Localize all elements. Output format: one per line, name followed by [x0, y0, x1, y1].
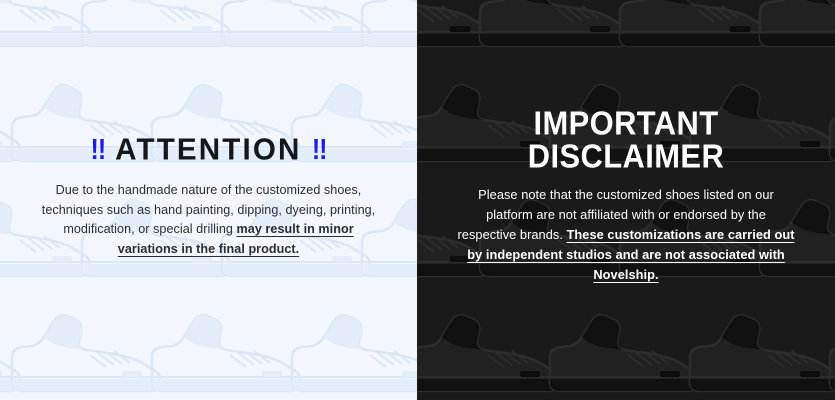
disclaimer-heading: IMPORTANT DISCLAIMER	[451, 108, 801, 174]
disclaimer-content: IMPORTANT DISCLAIMER Please note that th…	[456, 111, 796, 288]
attention-panel: !! ATTENTION !! Due to the handmade natu…	[0, 0, 417, 400]
attention-body: Due to the handmade nature of the custom…	[39, 181, 379, 260]
disclaimer-heading-line-1: IMPORTANT	[451, 108, 801, 141]
bang-right-icon: !!	[312, 136, 327, 165]
promo-banner: !! ATTENTION !! Due to the handmade natu…	[0, 0, 835, 400]
attention-title: ATTENTION	[115, 135, 301, 166]
attention-content: !! ATTENTION !! Due to the handmade natu…	[39, 136, 379, 264]
bang-left-icon: !!	[91, 136, 106, 165]
disclaimer-panel: IMPORTANT DISCLAIMER Please note that th…	[417, 0, 835, 400]
disclaimer-body: Please note that the customized shoes li…	[456, 185, 796, 284]
attention-heading: !! ATTENTION !!	[39, 135, 379, 166]
disclaimer-heading-line-2: DISCLAIMER	[451, 141, 801, 174]
